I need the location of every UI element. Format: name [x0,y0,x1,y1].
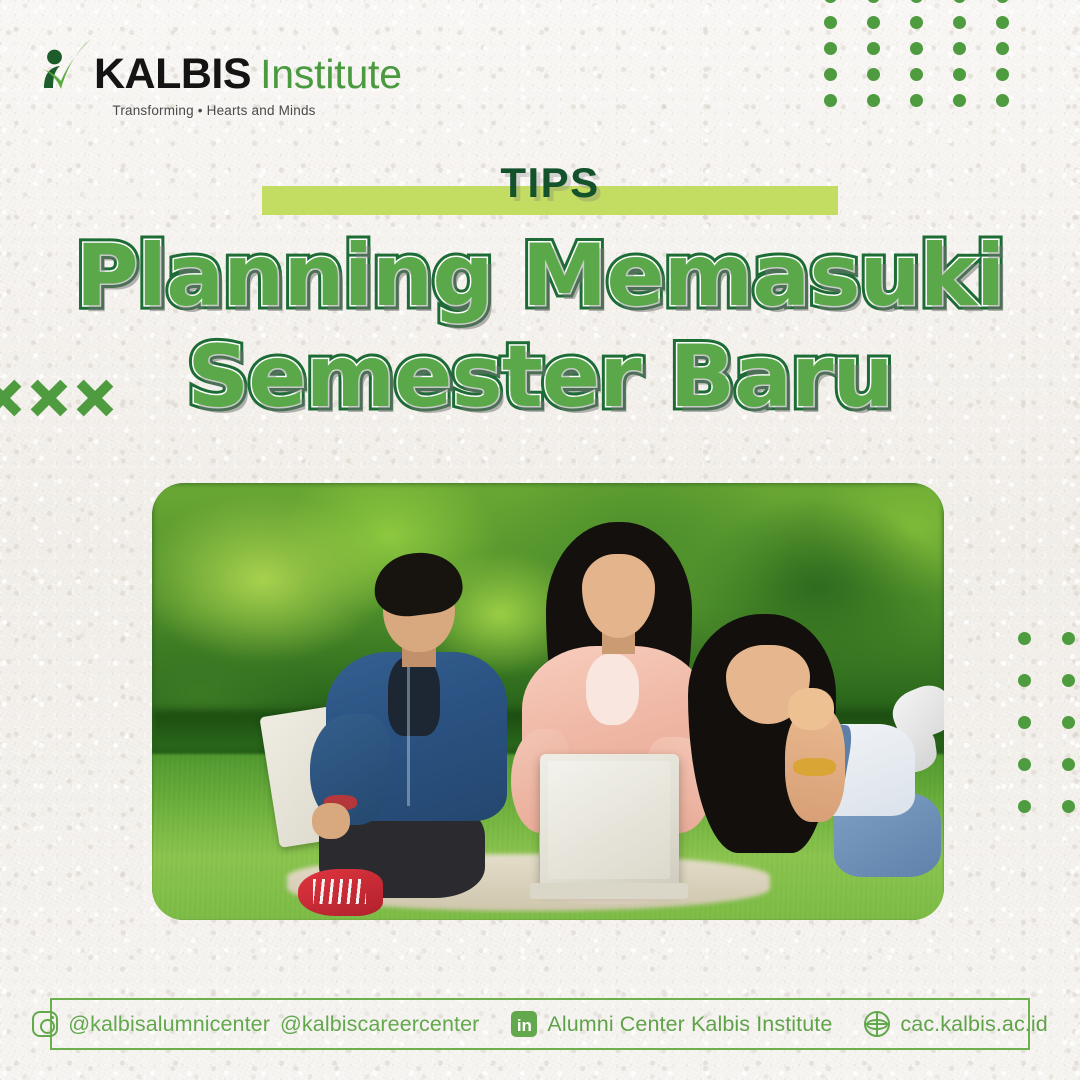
photo-laptop-center [540,754,679,889]
linkedin-badge-text: in [511,1017,537,1034]
checkmark-person-icon [36,36,92,94]
headline-line-2-fill: Semester Baru [0,327,1080,428]
linkedin-icon: in [511,1011,537,1037]
logo-text-secondary: Institute [260,54,402,95]
dot-grid-icon-right [1018,632,1080,813]
dot-grid-icon-top-right [824,0,1009,107]
globe-icon [864,1011,890,1037]
eyebrow-band: TIPS [262,186,838,215]
brand-logo: KALBIS Institute Transforming • Hearts a… [36,36,346,118]
footer-website[interactable]: cac.kalbis.ac.id [864,1011,1047,1037]
eyebrow-label: TIPS [262,159,838,207]
instagram-icon [32,1011,58,1037]
logo-tagline: Transforming • Hearts and Minds [36,103,346,118]
instagram-handle-2: @kalbiscareercenter [280,1012,479,1037]
footer-instagram[interactable]: @kalbisalumnicenter @kalbiscareercenter [32,1011,479,1037]
hero-photo [152,483,944,920]
website-url: cac.kalbis.ac.id [900,1012,1047,1037]
footer-contact-bar: @kalbisalumnicenter @kalbiscareercenter … [50,998,1030,1050]
footer-linkedin[interactable]: in Alumni Center Kalbis Institute [511,1011,832,1037]
linkedin-page-name: Alumni Center Kalbis Institute [547,1012,832,1037]
photo-student-left [302,553,540,920]
poster-canvas: KALBIS Institute Transforming • Hearts a… [0,0,1080,1080]
headline-line-1-fill: Planning Memasuki [0,226,1080,327]
page-title: Planning Memasuki Planning Memasuki Plan… [0,226,1080,429]
photo-student-right [667,614,936,920]
instagram-handle-1: @kalbisalumnicenter [68,1012,270,1037]
logo-text-primary: KALBIS [94,53,251,96]
